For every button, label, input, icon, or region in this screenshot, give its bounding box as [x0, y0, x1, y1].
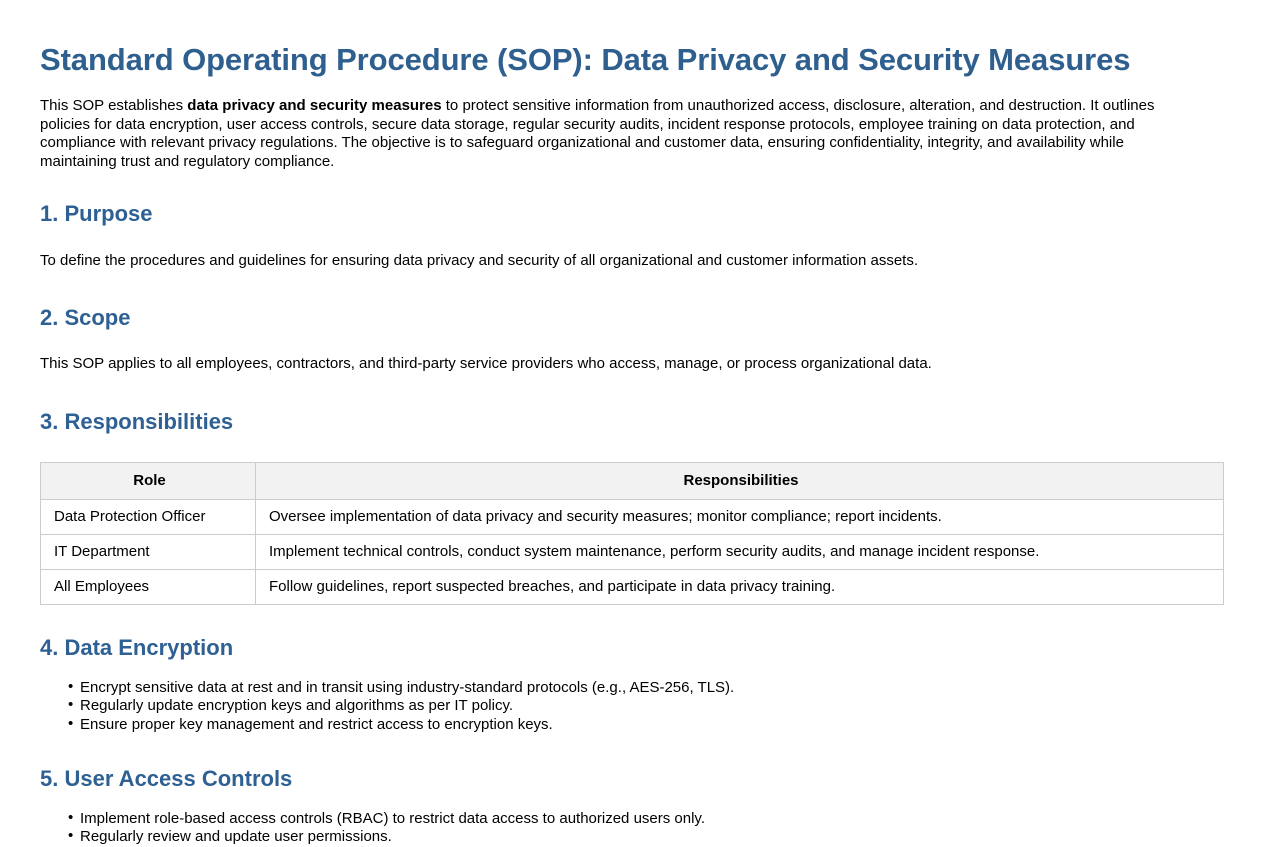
cell-role: All Employees — [41, 570, 256, 605]
section-heading-responsibilities: 3. Responsibilities — [40, 374, 1223, 435]
table-row: All Employees Follow guidelines, report … — [41, 570, 1224, 605]
table-header: Role Responsibilities — [41, 463, 1224, 500]
section-heading-user-access-controls: 5. User Access Controls — [40, 734, 1223, 792]
section-heading-purpose: 1. Purpose — [40, 171, 1223, 227]
section-heading-data-encryption: 4. Data Encryption — [40, 605, 1223, 661]
intro-bold-phrase: data privacy and security measures — [187, 97, 441, 114]
table-row: Data Protection Officer Oversee implemen… — [41, 500, 1224, 535]
list-item: Ensure proper key management and restric… — [40, 716, 1223, 735]
column-header-responsibilities: Responsibilities — [256, 463, 1224, 500]
list-item: Encrypt sensitive data at rest and in tr… — [40, 679, 1223, 698]
list-item: Implement role-based access controls (RB… — [40, 810, 1223, 829]
document-page: Standard Operating Procedure (SOP): Data… — [0, 0, 1263, 847]
cell-responsibility: Implement technical controls, conduct sy… — [256, 535, 1224, 570]
scope-text: This SOP applies to all employees, contr… — [40, 331, 1223, 374]
cell-responsibility: Follow guidelines, report suspected brea… — [256, 570, 1224, 605]
cell-role: Data Protection Officer — [41, 500, 256, 535]
intro-paragraph: This SOP establishes data privacy and se… — [40, 78, 1192, 171]
page-title: Standard Operating Procedure (SOP): Data… — [40, 0, 1223, 78]
intro-text-before-bold: This SOP establishes — [40, 97, 187, 114]
user-access-controls-list: Implement role-based access controls (RB… — [40, 793, 1223, 847]
section-heading-scope: 2. Scope — [40, 270, 1223, 331]
purpose-text: To define the procedures and guidelines … — [40, 228, 1223, 271]
cell-role: IT Department — [41, 535, 256, 570]
list-item: Regularly review and update user permiss… — [40, 828, 1223, 847]
table-row: IT Department Implement technical contro… — [41, 535, 1224, 570]
column-header-role: Role — [41, 463, 256, 500]
table-body: Data Protection Officer Oversee implemen… — [41, 500, 1224, 605]
list-item: Regularly update encryption keys and alg… — [40, 697, 1223, 716]
cell-responsibility: Oversee implementation of data privacy a… — [256, 500, 1224, 535]
data-encryption-list: Encrypt sensitive data at rest and in tr… — [40, 662, 1223, 735]
responsibilities-table: Role Responsibilities Data Protection Of… — [40, 462, 1224, 605]
table-header-row: Role Responsibilities — [41, 463, 1224, 500]
